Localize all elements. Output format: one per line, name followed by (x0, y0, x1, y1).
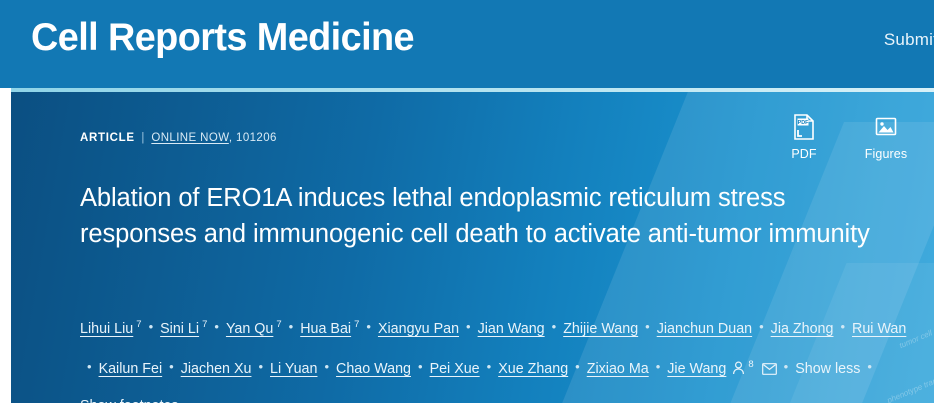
author-separator-dot: • (289, 309, 294, 344)
author-link[interactable]: Zhijie Wang (563, 321, 638, 337)
author-affiliation-marker[interactable]: 7 (354, 307, 359, 342)
author-link[interactable]: Xiangyu Pan (378, 321, 459, 337)
article-hero-panel: tumor cell phenotype trans ARTICLE | ONL… (11, 92, 934, 403)
author-separator-dot: • (87, 349, 92, 384)
author-link[interactable]: Jiachen Xu (181, 361, 252, 377)
author-separator-dot: • (552, 309, 557, 344)
meta-separator: | (141, 132, 144, 144)
author-link[interactable]: Jianchun Duan (657, 321, 752, 337)
figures-action[interactable]: Figures (860, 114, 912, 161)
article-status-link[interactable]: ONLINE NOW (151, 132, 228, 144)
author-separator-dot: • (418, 349, 423, 384)
author-list: Lihui Liu7•Sini Li7•Yan Qu7•Hua Bai7•Xia… (80, 307, 920, 403)
author-separator-dot: • (487, 349, 492, 384)
svg-text:PDF: PDF (798, 120, 809, 126)
author-separator-dot: • (466, 309, 471, 344)
journal-title[interactable]: Cell Reports Medicine (31, 16, 414, 60)
submit-link[interactable]: Submit (884, 30, 934, 50)
corresponding-author-affiliation-marker[interactable]: 8 (748, 347, 753, 382)
journal-masthead: Cell Reports Medicine Submit (0, 0, 934, 88)
article-header-page: Cell Reports Medicine Submit tumor cell … (0, 0, 934, 415)
corresponding-author-link[interactable]: Jie Wang (667, 361, 726, 377)
author-separator-dot: • (656, 349, 661, 384)
author-link[interactable]: Jia Zhong (771, 321, 834, 337)
author-link[interactable]: Lihui Liu (80, 321, 133, 337)
figures-icon (874, 114, 898, 140)
author-separator-dot: • (575, 349, 580, 384)
author-link[interactable]: Yan Qu (226, 321, 273, 337)
article-type-label: ARTICLE (80, 132, 135, 144)
author-affiliation-marker[interactable]: 7 (202, 307, 207, 342)
author-link[interactable]: Jian Wang (478, 321, 545, 337)
author-separator-dot: • (214, 309, 219, 344)
figures-label: Figures (865, 147, 907, 161)
article-actions: PDF PDF Figures (778, 114, 912, 161)
show-less-toggle[interactable]: Show less (795, 361, 860, 377)
author-separator-dot: • (784, 349, 789, 384)
author-link[interactable]: Chao Wang (336, 361, 411, 377)
author-separator-dot: • (169, 349, 174, 384)
pdf-label: PDF (791, 147, 816, 161)
author-affiliation-marker[interactable]: 7 (276, 307, 281, 342)
author-separator-dot: • (759, 309, 764, 344)
envelope-icon[interactable] (762, 354, 777, 389)
masthead-inner: Cell Reports Medicine Submit (11, 0, 934, 88)
author-separator-dot: • (867, 349, 872, 384)
article-meta: ARTICLE | ONLINE NOW, 101206 (80, 132, 277, 144)
author-link[interactable]: Li Yuan (270, 361, 317, 377)
author-separator-dot: • (324, 349, 329, 384)
author-link[interactable]: Xue Zhang (498, 361, 568, 377)
author-link[interactable]: Sini Li (160, 321, 199, 337)
author-link[interactable]: Rui Wan (852, 321, 906, 337)
author-link[interactable]: Kailun Fei (99, 361, 163, 377)
article-title[interactable]: Ablation of ERO1A induces lethal endopla… (80, 180, 870, 252)
article-number: 101206 (236, 132, 277, 144)
author-separator-dot: • (149, 309, 154, 344)
author-link[interactable]: Zixiao Ma (587, 361, 649, 377)
author-separator-dot: • (366, 309, 371, 344)
pdf-icon: PDF (792, 114, 816, 140)
author-affiliation-marker[interactable]: 7 (136, 307, 141, 342)
author-separator-dot: • (645, 309, 650, 344)
pdf-action[interactable]: PDF PDF (778, 114, 830, 161)
show-footnotes-toggle[interactable]: Show footnotes (80, 398, 179, 403)
author-link[interactable]: Hua Bai (300, 321, 351, 337)
author-separator-dot: • (840, 309, 845, 344)
person-icon[interactable] (732, 354, 745, 389)
author-link[interactable]: Pei Xue (430, 361, 480, 377)
author-separator-dot: • (258, 349, 263, 384)
meta-comma: , (229, 132, 233, 144)
